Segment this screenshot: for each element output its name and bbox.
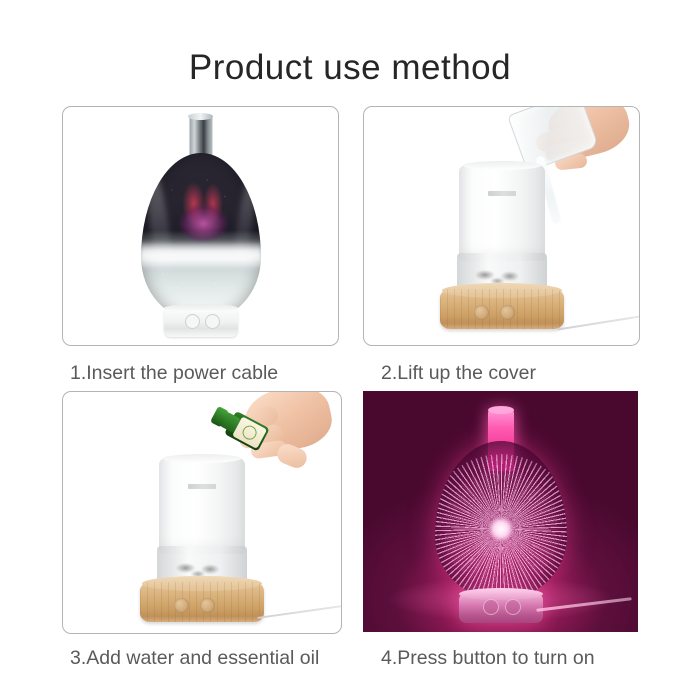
vase-body <box>141 153 261 321</box>
step-4-panel <box>363 391 638 632</box>
diffuser-base-lit <box>459 593 543 623</box>
product-use-method-infographic: Product use method 1.Insert the p <box>0 0 700 700</box>
wood-base <box>140 582 264 622</box>
step-1-panel <box>62 106 339 346</box>
light-button-icon[interactable] <box>200 598 215 613</box>
vase-neck-rim <box>188 113 213 120</box>
step-3-image <box>63 392 341 633</box>
step-3-panel <box>62 391 342 634</box>
power-button-icon[interactable] <box>474 305 489 320</box>
step-2-image <box>364 107 639 345</box>
step-3-caption: 3.Add water and essential oil <box>70 647 319 670</box>
water-tank <box>459 165 545 261</box>
diffuser-base-white <box>164 307 238 337</box>
brand-logo-mark <box>188 484 216 489</box>
lit-diffuser <box>435 409 567 615</box>
lit-vase-body <box>435 441 567 599</box>
step-2-panel <box>363 106 640 346</box>
light-button-icon[interactable] <box>505 599 521 615</box>
step-2-caption: 2.Lift up the cover <box>381 362 536 385</box>
brand-logo-mark <box>488 191 516 196</box>
water-tank <box>159 458 245 554</box>
wood-base <box>440 289 564 329</box>
light-button-icon[interactable] <box>500 305 515 320</box>
power-button-icon[interactable] <box>483 599 499 615</box>
page-title: Product use method <box>0 48 700 88</box>
step-4-caption: 4.Press button to turn on <box>381 647 595 670</box>
step-4-image <box>363 391 638 632</box>
step-1-image <box>63 107 338 345</box>
glass-vase-diffuser <box>141 115 261 337</box>
power-cable <box>557 314 640 331</box>
light-core <box>488 516 514 542</box>
light-button-icon[interactable] <box>205 314 220 329</box>
power-button-icon[interactable] <box>174 598 189 613</box>
power-button-icon[interactable] <box>185 314 200 329</box>
step-1-caption: 1.Insert the power cable <box>70 362 278 385</box>
power-cable <box>257 603 342 619</box>
